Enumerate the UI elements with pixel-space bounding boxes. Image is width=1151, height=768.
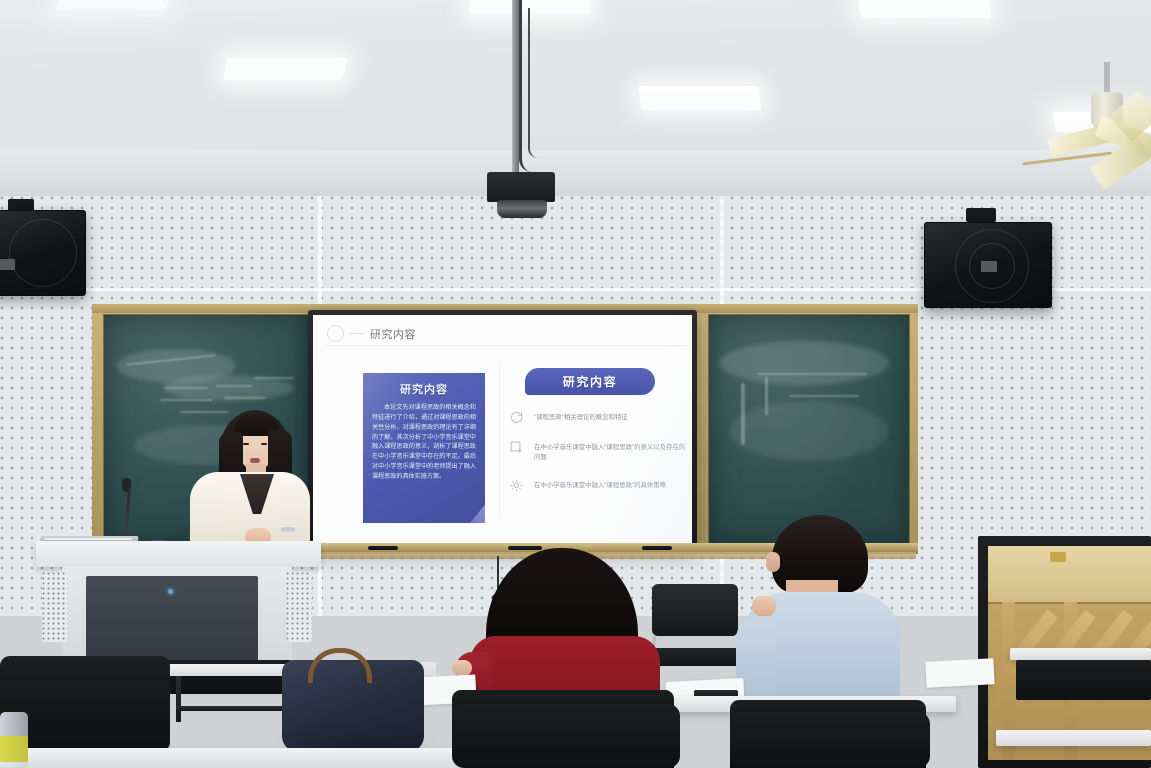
slide-header: 研究内容 — [327, 325, 416, 342]
presentation-slide: 研究内容 研究内容 本论文先对课程思政的相关概念和特征进行了介绍，通过对课程思政… — [313, 315, 692, 543]
speaker-left-cone — [9, 219, 77, 287]
cabinet-header-panel — [988, 546, 1151, 604]
slide-left-card: 研究内容 本论文先对课程思政的相关概念和特征进行了介绍，通过对课程思政的相关性分… — [363, 373, 485, 523]
chalk-writing — [254, 377, 294, 379]
empty-chair-seat[interactable] — [650, 648, 742, 666]
foreground-chair-front — [452, 704, 680, 768]
audience-member-blue-hand — [752, 596, 776, 616]
water-bottle-label — [0, 736, 28, 762]
slide-bullet-item: 在中小学音乐课堂中融入“课程思政”的意义以及存在的问题 — [509, 440, 691, 463]
classroom-photo-scene: 研究内容 研究内容 本论文先对课程思政的相关概念和特征进行了介绍，通过对课程思政… — [0, 0, 1151, 768]
audience-member-blue-ear — [766, 552, 780, 572]
chalkboard-right — [708, 314, 910, 544]
speaker-left — [0, 210, 86, 296]
ceiling-light-6 — [56, 0, 171, 10]
slide-right-pill-title: 研究内容 — [525, 368, 655, 395]
slide-left-card-paragraph: 本论文先对课程思政的相关概念和特征进行了介绍，通过对课程思政的相关性分析，对课程… — [372, 403, 476, 482]
desk-right-back-body — [1016, 660, 1151, 700]
foreground-chair-right — [730, 712, 930, 768]
podium-indicator-led — [168, 589, 173, 594]
projection-screen[interactable]: 研究内容 研究内容 本论文先对课程思政的相关概念和特征进行了介绍，通过对课程思政… — [308, 310, 697, 548]
divider-line — [350, 333, 364, 334]
ceiling-light-2 — [638, 86, 761, 110]
slide-left-card-heading: 研究内容 — [372, 381, 476, 397]
ceiling-projector — [487, 172, 555, 202]
ledge-clip-1 — [368, 546, 398, 550]
projector-pole — [512, 0, 519, 178]
chalk-writing — [180, 411, 228, 413]
ceiling-fan-stem — [1104, 62, 1110, 94]
gear-icon — [509, 478, 524, 493]
projector-lens — [497, 200, 547, 218]
slide-vertical-divider — [499, 365, 500, 515]
ledge-clip-3 — [642, 546, 672, 550]
slide-bullet-text: “课程思政”相关理论的概念和特征 — [534, 410, 628, 423]
podium-vent-left — [42, 572, 68, 642]
presenter-bracelet — [281, 527, 295, 532]
podium-top — [36, 541, 321, 567]
desk-right-back — [1010, 648, 1151, 660]
slide-bullet-item: “课程思政”相关理论的概念和特征 — [509, 410, 691, 425]
ceiling-soffit — [0, 150, 1151, 202]
desk-right-front — [996, 730, 1151, 746]
speaker-left-badge — [0, 259, 15, 270]
desk-mid-left-leg — [176, 676, 181, 722]
slide-bullet-text: 在中小学音乐课堂中融入“课程思政”的意义以及存在的问题 — [534, 440, 691, 463]
chalk-smudge — [729, 401, 889, 461]
projector-cable-2 — [528, 8, 538, 158]
chalk-writing — [216, 385, 252, 387]
slide-bullet-list: “课程思政”相关理论的概念和特征 在中小学音乐课堂中融入“课程思政”的意义以及存… — [509, 410, 691, 508]
slide-header-rule — [327, 345, 687, 346]
empty-chair-back[interactable] — [652, 584, 738, 636]
podium-vent-right — [286, 572, 312, 642]
ledge-clip-2 — [508, 546, 542, 550]
chalk-writing — [765, 377, 768, 415]
chalk-writing — [757, 373, 867, 375]
presenter-mouth — [250, 458, 260, 463]
speaker-right — [924, 222, 1052, 308]
chalk-writing — [741, 383, 745, 445]
laptop-edge — [44, 538, 132, 540]
paper-sheet-right — [925, 658, 994, 688]
audience-member-red-hand — [452, 660, 472, 676]
handbag-handle — [308, 648, 372, 683]
slide-bullet-text: 在中小学音乐课堂中融入“课程思政”的具体策略 — [534, 478, 666, 491]
refresh-icon — [509, 410, 524, 425]
crop-download-icon — [509, 440, 524, 455]
chalk-smudge — [719, 341, 889, 385]
ceiling-light-1 — [223, 58, 348, 80]
chalk-writing — [224, 397, 266, 399]
speaker-right-bracket — [966, 208, 996, 222]
slide-header-title: 研究内容 — [370, 326, 416, 342]
foreground-desk — [0, 748, 470, 768]
circle-icon — [327, 325, 344, 342]
cabinet-latch — [1050, 552, 1066, 562]
speaker-right-badge — [981, 261, 997, 272]
chalk-writing — [160, 399, 212, 401]
chalk-writing — [789, 395, 859, 397]
slide-bullet-item: 在中小学音乐课堂中融入“课程思政”的具体策略 — [509, 478, 691, 493]
chalk-writing — [164, 387, 208, 389]
ceiling-light-4 — [858, 0, 992, 18]
